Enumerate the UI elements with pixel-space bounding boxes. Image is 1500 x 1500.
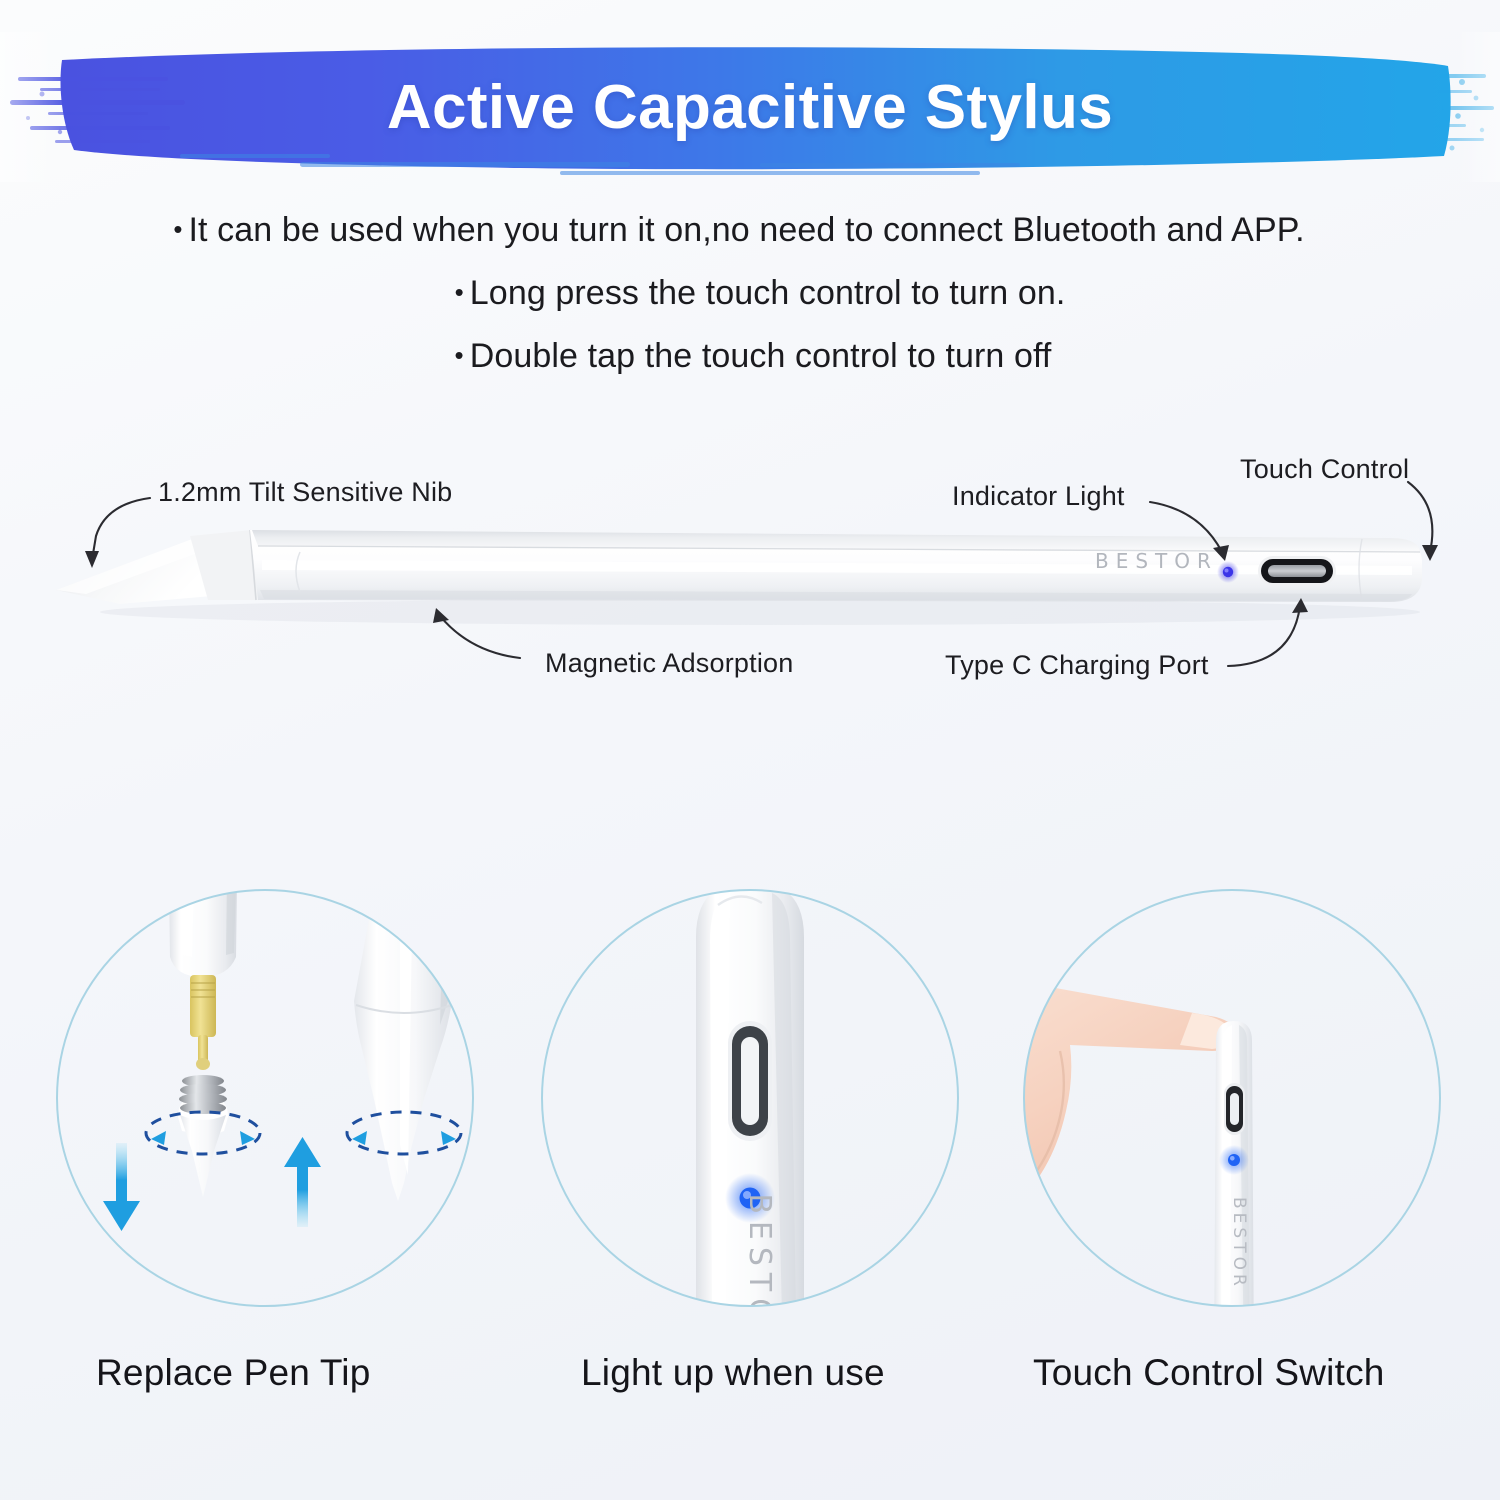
panel-caption-light-up-when-use: Light up when use	[581, 1352, 885, 1394]
bullet-text: Double tap the touch control to turn off	[470, 337, 1052, 375]
callout-type-c-port: Type C Charging Port	[945, 650, 1209, 681]
callout-magnetic-adsorption: Magnetic Adsorption	[545, 648, 793, 679]
bullet-item: •Double tap the touch control to turn of…	[0, 324, 1500, 387]
panel-captions: Replace Pen Tip Light up when use Touch …	[0, 1352, 1500, 1422]
brand-logo-text: BESTOR	[1095, 549, 1218, 573]
bullet-item: •Long press the touch control to turn on…	[0, 261, 1500, 324]
callout-touch-control: Touch Control	[1240, 454, 1409, 485]
feature-bullet-list: •It can be used when you turn it on,no n…	[0, 198, 1500, 387]
bullet-marker-icon: •	[455, 277, 464, 307]
bullet-item: •It can be used when you turn it on,no n…	[0, 198, 1500, 261]
feature-panels-illustration: BESTOR BESTOR	[0, 845, 1500, 1405]
bullet-text: It can be used when you turn it on,no ne…	[189, 211, 1305, 249]
callout-indicator-light: Indicator Light	[952, 481, 1125, 512]
bullet-marker-icon: •	[455, 340, 464, 370]
svg-text:BESTOR: BESTOR	[1229, 1197, 1249, 1290]
feature-panels: BESTOR BESTOR	[0, 845, 1500, 1405]
svg-text:BESTOR: BESTOR	[742, 1193, 777, 1356]
page-title: Active Capacitive Stylus	[0, 32, 1500, 182]
pen-diagram: 1.2mm Tilt Sensitive Nib Magnetic Adsorp…	[0, 420, 1500, 740]
bullet-text: Long press the touch control to turn on.	[470, 274, 1066, 312]
panel-caption-replace-pen-tip: Replace Pen Tip	[96, 1352, 371, 1394]
callout-nib: 1.2mm Tilt Sensitive Nib	[158, 477, 452, 508]
panel-caption-touch-control-switch: Touch Control Switch	[1033, 1352, 1385, 1394]
bullet-marker-icon: •	[173, 214, 182, 244]
header-banner: Active Capacitive Stylus	[0, 32, 1500, 182]
